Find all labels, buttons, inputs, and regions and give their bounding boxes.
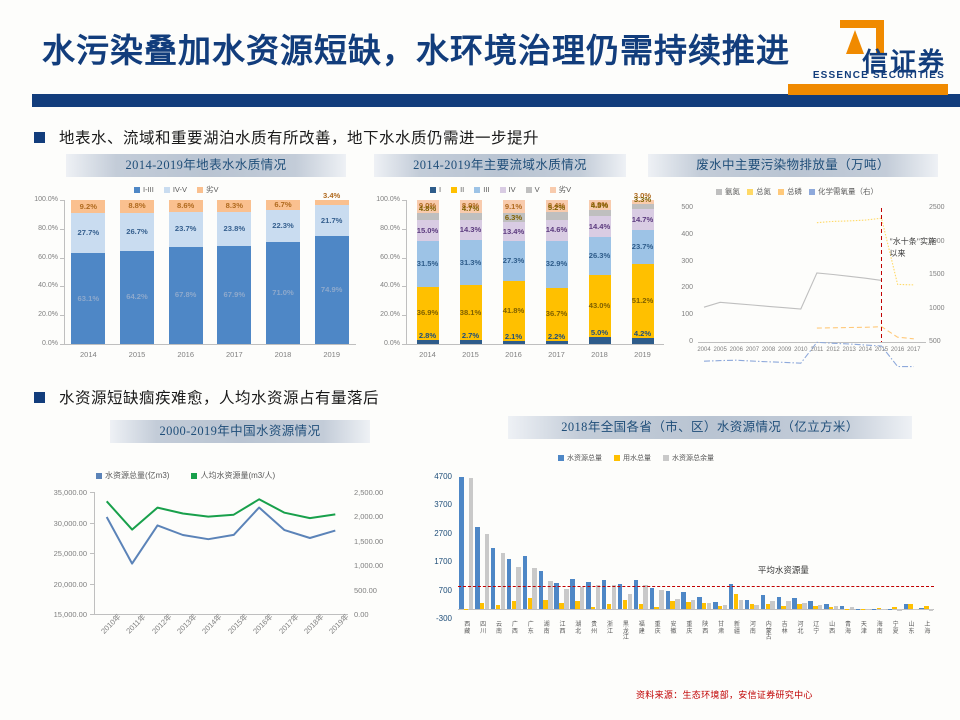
x-category-label: 西藏 — [463, 622, 472, 635]
bar-用水总量 — [908, 604, 912, 610]
legend-swatch — [164, 187, 170, 193]
x-category-label: 四川 — [479, 622, 488, 635]
bar-segment: 2.2% — [546, 341, 568, 344]
bar-stack: 9.1%6.3%13.4%27.3%41.8%2.1% — [503, 200, 525, 344]
y2-tick-label: 500 — [929, 338, 941, 345]
legend-swatch — [614, 455, 620, 461]
bar-水资源总量 — [459, 477, 463, 609]
bar-stack: 9.2%27.7%63.1% — [71, 200, 105, 344]
x-category-label: 陕西 — [701, 622, 710, 635]
legend-label: II — [460, 185, 464, 194]
bar-value-label: 13.4% — [503, 227, 525, 236]
bar-水资源总量 — [539, 571, 543, 609]
bar-stack: 3.0%3.3%14.7%23.7%51.2%4.2% — [632, 200, 654, 344]
bar-value-label: 15.0% — [417, 226, 439, 235]
panel-title-province-water: 2018年全国各省（市、区）水资源情况（亿立方米） — [508, 416, 912, 439]
series-line-总磷 — [817, 327, 914, 339]
legend-swatch — [526, 187, 532, 193]
panel-title-surface-water: 2014-2019年地表水水质情况 — [66, 154, 346, 177]
x-category-label: 2015 — [453, 350, 489, 359]
legend-item-水资源总余量: 水资源总余量 — [663, 453, 714, 463]
legend-item-IV: IV — [500, 185, 516, 194]
bar-value-label: 14.7% — [632, 215, 654, 224]
bar-value-label: 27.7% — [78, 228, 100, 237]
bar-segment: 63.1% — [71, 253, 105, 344]
legend-label: IV-V — [173, 185, 187, 194]
y-tick-label: 40.0% — [370, 282, 400, 289]
bar-value-label: 64.2% — [126, 292, 148, 301]
header-orange-rule — [788, 84, 948, 95]
bar-水资源总量 — [840, 606, 844, 609]
bar-segment: 27.3% — [503, 241, 525, 280]
bar-segment: 8.3% — [217, 200, 251, 212]
y-axis-line — [64, 200, 65, 344]
bar-value-label: 5.0% — [591, 328, 608, 337]
bar-水资源总量 — [761, 595, 765, 609]
source-note: 资料来源：生态环境部，安信证券研究中心 — [636, 688, 813, 701]
bar-水资源总余量 — [564, 589, 568, 609]
x-axis-line — [458, 609, 934, 610]
bullet-2: 水资源短缺痼疾难愈，人均水资源占有量落后 — [34, 386, 379, 408]
bar-水资源总余量 — [612, 585, 616, 610]
bar-segment: 4.8% — [417, 213, 439, 220]
bar-value-label: 2.2% — [548, 332, 565, 341]
bar-水资源总量 — [713, 602, 717, 610]
bar-水资源总余量 — [754, 605, 758, 609]
bar-value-label: 8.6% — [177, 201, 194, 210]
x-category-label: 江西 — [558, 622, 567, 635]
x-category-label: 河北 — [796, 622, 805, 635]
y-tick-label: 60.0% — [370, 254, 400, 261]
bar-用水总量 — [750, 604, 754, 610]
x-category-label: 重庆 — [653, 622, 662, 635]
bar-stack: 6.7%22.3%71.0% — [266, 200, 300, 344]
bar-segment: 4.7% — [460, 213, 482, 220]
bar-水资源总量 — [792, 598, 796, 609]
bar-value-label: 26.3% — [589, 251, 611, 260]
legend-label: 化学需氧量（右） — [818, 187, 878, 196]
bar-水资源总量 — [650, 588, 654, 610]
bar-value-label: 32.9% — [546, 259, 568, 268]
y-tick-label: 20.0% — [370, 311, 400, 318]
bar-value-label: 14.4% — [589, 222, 611, 231]
legend-item-水资源总量: 水资源总量 — [558, 453, 602, 463]
x-category-label: 2018 — [582, 350, 618, 359]
bar-segment: 2.1% — [503, 341, 525, 344]
bar-用水总量 — [797, 604, 801, 609]
x-category-label: 重庆 — [685, 622, 694, 635]
x-category-label: 福建 — [637, 622, 646, 635]
bar-segment: 74.9% — [315, 236, 349, 344]
bar-value-label: 27.3% — [503, 256, 525, 265]
bar-水资源总量 — [570, 579, 574, 610]
legend-label: 水资源总量 — [567, 455, 602, 462]
bar-水资源总余量 — [834, 606, 838, 610]
bar-stack: 8.9%4.7%14.3%31.3%38.1%2.7% — [460, 200, 482, 344]
bar-value-label: 36.7% — [546, 309, 568, 318]
bar-水资源总余量 — [723, 605, 727, 609]
bar-水资源总量 — [888, 609, 892, 610]
bar-segment: 31.5% — [417, 241, 439, 286]
bar-水资源总量 — [491, 548, 495, 609]
bar-水资源总量 — [808, 601, 812, 609]
bullet-1-text: 地表水、流域和重要湖泊水质有所改善，地下水水质仍需进一步提升 — [59, 126, 539, 148]
bar-用水总量 — [829, 607, 833, 609]
bar-水资源总量 — [666, 591, 670, 610]
x-category-label: 2018 — [265, 350, 301, 359]
bar-value-label: 23.7% — [175, 224, 197, 233]
legend-swatch — [430, 187, 436, 193]
x-axis-line — [64, 344, 356, 345]
bar-value-label: 67.9% — [224, 290, 246, 299]
bar-水资源总余量 — [897, 609, 901, 611]
legend-swatch — [558, 455, 564, 461]
bar-segment: 2.8% — [417, 340, 439, 344]
bar-水资源总余量 — [516, 567, 520, 610]
chart-legend: 水资源总量用水总量水资源总余量 — [558, 453, 714, 463]
bar-value-label: 2.7% — [462, 331, 479, 340]
bar-value-label: 8.8% — [128, 201, 145, 210]
bar-用水总量 — [670, 601, 674, 609]
bar-用水总量 — [892, 607, 896, 609]
bar-segment: 6.3% — [503, 213, 525, 222]
x-category-label: 上海 — [923, 622, 932, 635]
bar-用水总量 — [654, 607, 658, 609]
legend-item-化学需氧量（右）: 化学需氧量（右） — [809, 186, 878, 197]
bar-用水总量 — [813, 606, 817, 610]
bar-水资源总量 — [919, 608, 923, 610]
x-category-label: 安徽 — [669, 622, 678, 635]
bar-value-label: 4.7% — [462, 204, 479, 213]
average-annotation: 平均水资源量 — [758, 564, 809, 576]
y-tick-label: 2700 — [424, 529, 452, 538]
bar-用水总量 — [575, 601, 579, 609]
bar-水资源总余量 — [770, 601, 774, 610]
bar-水资源总量 — [602, 580, 606, 610]
bar-水资源总余量 — [501, 553, 505, 610]
bar-水资源总量 — [523, 556, 527, 609]
bar-stack: 6.9%4.5%14.4%26.3%43.0%5.0% — [589, 200, 611, 344]
bar-水资源总余量 — [707, 603, 711, 609]
legend-label: 劣V — [559, 185, 572, 194]
bar-水资源总量 — [475, 527, 479, 610]
panel-title-china-water: 2000-2019年中国水资源情况 — [110, 420, 370, 443]
x-axis-line — [406, 344, 664, 345]
bar-value-label: 4.8% — [419, 204, 436, 213]
bar-用水总量 — [861, 609, 865, 610]
y-tick-label: 80.0% — [22, 225, 58, 232]
bar-value-label: 3.3% — [634, 195, 651, 204]
x-category-label: 黑龙江 — [621, 622, 630, 642]
y-tick-label: 60.0% — [22, 254, 58, 261]
legend-swatch — [716, 189, 722, 195]
bar-value-label: 6.3% — [505, 213, 522, 222]
bar-value-label: 63.1% — [78, 294, 100, 303]
bar-value-label: 21.7% — [321, 216, 343, 225]
x-category-label: 甘肃 — [717, 622, 726, 635]
bar-用水总量 — [496, 605, 500, 609]
x-category-label: 湖北 — [574, 622, 583, 635]
bar-水资源总量 — [904, 604, 908, 609]
bar-水资源总余量 — [881, 609, 885, 610]
bar-value-label: 38.1% — [460, 308, 482, 317]
legend-item-劣V: 劣V — [550, 184, 572, 195]
bar-value-label: 41.8% — [503, 306, 525, 315]
bar-segment: 71.0% — [266, 242, 300, 344]
legend-item-总氮: 总氮 — [747, 186, 771, 197]
bar-stack: 8.8%26.7%64.2% — [120, 200, 154, 344]
y-tick-label: 200 — [672, 284, 693, 291]
bar-用水总量 — [734, 594, 738, 610]
y-tick-label: 400 — [672, 231, 693, 238]
bar-segment: 8.6% — [169, 200, 203, 212]
x-category-label: 河南 — [748, 622, 757, 635]
bar-value-label: 2.1% — [505, 332, 522, 341]
bar-用水总量 — [464, 609, 468, 610]
y-tick-label: 700 — [424, 586, 452, 595]
bar-segment: 5.2% — [546, 212, 568, 219]
bar-segment: 5.0% — [589, 337, 611, 344]
x-category-label: 2017 — [539, 350, 575, 359]
legend-item-用水总量: 用水总量 — [614, 453, 651, 463]
bar-segment: 26.7% — [120, 213, 154, 251]
bar-水资源总量 — [824, 604, 828, 610]
chart-surface-water: I-IIIIV-V劣V0.0%20.0%40.0%60.0%80.0%100.0… — [22, 182, 362, 370]
bar-segment: 23.7% — [169, 212, 203, 246]
bar-用水总量 — [718, 606, 722, 609]
bar-segment: 6.7% — [266, 200, 300, 210]
bar-value-label: 6.7% — [274, 200, 291, 209]
bar-水资源总余量 — [929, 609, 933, 610]
x-category-label: 内蒙古 — [764, 622, 773, 642]
x-category-label: 2017 — [216, 350, 252, 359]
bar-segment: 21.7% — [315, 205, 349, 236]
header-blue-rule — [32, 94, 960, 107]
bar-value-label: 4.5% — [591, 201, 608, 210]
x-category-label: 湖南 — [542, 622, 551, 635]
legend-swatch — [550, 187, 556, 193]
bar-用水总量 — [766, 604, 770, 609]
y-tick-label: 4700 — [424, 472, 452, 481]
legend-swatch — [747, 189, 753, 195]
bar-segment: 67.8% — [169, 247, 203, 345]
bar-用水总量 — [543, 600, 547, 609]
x-category-label: 新疆 — [732, 622, 741, 635]
y2-tick-label: 1000 — [929, 305, 945, 312]
bar-value-label: 23.8% — [224, 224, 246, 233]
series-line-人均水资源量(m3/人) — [107, 499, 336, 529]
bar-value-label: 51.2% — [632, 296, 654, 305]
chart-basin-water: IIIIIIIVV劣V0.0%20.0%40.0%60.0%80.0%100.0… — [370, 182, 670, 370]
y-tick-label: -300 — [424, 614, 452, 623]
y-tick-label: 40.0% — [22, 282, 58, 289]
bar-水资源总量 — [745, 600, 749, 610]
bar-水资源总量 — [872, 609, 876, 610]
chart-legend: IIIIIIIVV劣V — [430, 184, 571, 195]
bar-segment: 9.1% — [503, 200, 525, 213]
logo-english-name: ESSENCE SECURITIES — [813, 70, 945, 81]
x-category-label: 2016 — [496, 350, 532, 359]
bar-value-label: 31.3% — [460, 258, 482, 267]
legend-item-I: I — [430, 185, 441, 194]
x-category-label: 山西 — [828, 622, 837, 635]
average-line — [458, 586, 934, 587]
x-category-label: 2019 — [314, 350, 350, 359]
bar-value-label: 2.8% — [419, 331, 436, 340]
bar-segment: 14.3% — [460, 220, 482, 241]
bar-value-label: 23.7% — [632, 242, 654, 251]
x-category-label: 宁夏 — [891, 622, 900, 635]
bar-水资源总余量 — [913, 609, 917, 610]
chart-china-water: 水资源总量(亿m3)人均水资源量(m3/人)15,000.0020,000.00… — [34, 456, 406, 668]
bar-value-label: 74.9% — [321, 285, 343, 294]
bar-用水总量 — [686, 602, 690, 610]
bar-value-label: 8.3% — [226, 201, 243, 210]
legend-label: IV — [509, 185, 516, 194]
legend-swatch — [778, 189, 784, 195]
bar-水资源总余量 — [786, 601, 790, 610]
chart-annotation: "水十条"实施以来 — [889, 236, 939, 260]
company-logo: 信证券 ESSENCE SECURITIES — [788, 20, 948, 86]
bar-水资源总量 — [856, 609, 860, 610]
bar-segment: 23.7% — [632, 230, 654, 264]
x-category-label: 2016 — [168, 350, 204, 359]
bar-水资源总余量 — [469, 478, 473, 609]
bar-value-label: 22.3% — [272, 221, 294, 230]
bar-用水总量 — [591, 607, 595, 610]
bar-水资源总量 — [681, 592, 685, 609]
bar-stack: 8.3%23.8%67.9% — [217, 200, 251, 344]
slide-header: 信证券 ESSENCE SECURITIES 水污染叠加水资源短缺，水环境治理仍… — [0, 0, 960, 110]
y2-tick-label: 2500 — [929, 204, 945, 211]
bar-水资源总余量 — [548, 581, 552, 610]
legend-label: 氨氮 — [725, 187, 740, 196]
y-tick-label: 1700 — [424, 557, 452, 566]
x-axis-line — [698, 342, 926, 343]
x-category-label: 天津 — [859, 622, 868, 635]
legend-swatch — [663, 455, 669, 461]
series-line-化学需氧量（右） — [704, 342, 914, 366]
bar-value-label: 5.2% — [548, 203, 565, 212]
y-tick-label: 100 — [672, 311, 693, 318]
bar-水资源总余量 — [739, 600, 743, 609]
bar-segment: 2.7% — [460, 340, 482, 344]
legend-label: III — [483, 185, 489, 194]
bar-水资源总余量 — [691, 600, 695, 609]
x-category-label: 吉林 — [780, 622, 789, 635]
legend-label: V — [535, 185, 540, 194]
bar-segment: 13.4% — [503, 222, 525, 241]
panel-title-basin-water: 2014-2019年主要流域水质情况 — [374, 154, 626, 177]
bar-水资源总量 — [729, 584, 733, 609]
bar-segment: 14.7% — [632, 209, 654, 230]
bar-value-label: 26.7% — [126, 227, 148, 236]
bar-水资源总余量 — [628, 594, 632, 609]
bar-segment: 22.3% — [266, 210, 300, 242]
x-category-label: 浙江 — [606, 622, 615, 635]
bullet-1: 地表水、流域和重要湖泊水质有所改善，地下水水质仍需进一步提升 — [34, 126, 539, 148]
bar-水资源总量 — [634, 580, 638, 610]
bar-value-label: 3.4% — [323, 191, 340, 200]
legend-swatch — [809, 189, 815, 195]
chart-province-water: 水资源总量用水总量水资源总余量-3007001700270037004700西藏… — [424, 452, 944, 662]
bar-水资源总余量 — [866, 609, 870, 610]
legend-item-I-III: I-III — [134, 185, 154, 194]
legend-label: 总氮 — [756, 187, 771, 196]
bar-value-label: 4.2% — [634, 329, 651, 338]
bar-水资源总量 — [618, 584, 622, 609]
legend-item-II: II — [451, 185, 464, 194]
x-category-label: 2014 — [410, 350, 446, 359]
bar-水资源总余量 — [596, 585, 600, 609]
bar-用水总量 — [639, 604, 643, 609]
bar-value-label: 14.3% — [460, 225, 482, 234]
bar-segment: 64.2% — [120, 251, 154, 343]
chart-legend: 氨氮总氮总磷化学需氧量（右） — [716, 186, 878, 197]
x-category-label: 云南 — [494, 622, 503, 635]
bar-segment: 9.2% — [71, 200, 105, 213]
bar-用水总量 — [559, 603, 563, 610]
legend-label: I-III — [143, 185, 154, 194]
x-category-label: 2014 — [70, 350, 106, 359]
bar-用水总量 — [781, 606, 785, 610]
legend-label: I — [439, 185, 441, 194]
bar-用水总量 — [623, 600, 627, 610]
y-axis-line — [406, 200, 407, 344]
x-category-label: 海南 — [875, 622, 884, 635]
x-category-label: 2017 — [905, 347, 923, 353]
bar-水资源总余量 — [532, 568, 536, 609]
bar-stack: 9.0%4.8%15.0%31.5%36.9%2.8% — [417, 200, 439, 344]
bar-水资源总余量 — [818, 605, 822, 610]
bar-用水总量 — [877, 608, 881, 609]
bar-value-label: 14.6% — [546, 225, 568, 234]
bar-stack: 8.4%5.2%14.6%32.9%36.7%2.2% — [546, 200, 568, 344]
bar-value-label: 9.1% — [505, 202, 522, 211]
bar-水资源总余量 — [643, 585, 647, 609]
bar-value-label: 71.0% — [272, 288, 294, 297]
bar-segment: 67.9% — [217, 246, 251, 344]
bar-水资源总余量 — [802, 603, 806, 609]
china-water-line-svg — [34, 456, 406, 668]
y2-tick-label: 1500 — [929, 271, 945, 278]
y-tick-label: 100.0% — [22, 196, 58, 203]
legend-swatch — [197, 187, 203, 193]
bar-segment: 8.8% — [120, 200, 154, 213]
chart-pollutant-emission: 氨氮总氮总磷化学需氧量（右）01002003004005005001000150… — [672, 186, 952, 372]
bar-segment: 14.6% — [546, 220, 568, 241]
bar-value-label: 9.2% — [80, 202, 97, 211]
bar-segment: 14.4% — [589, 216, 611, 237]
panel-title-pollutant: 废水中主要污染物排放量（万吨） — [648, 154, 938, 177]
legend-swatch — [134, 187, 140, 193]
bar-水资源总余量 — [659, 590, 663, 610]
bar-用水总量 — [512, 601, 516, 609]
bullet-square-icon — [34, 132, 45, 143]
bar-value-label: 43.0% — [589, 301, 611, 310]
bar-水资源总余量 — [675, 599, 679, 610]
bar-value-label: 67.8% — [175, 290, 197, 299]
y-tick-label: 80.0% — [370, 225, 400, 232]
bar-stack: 3.4%21.7%74.9% — [315, 200, 349, 344]
chart-legend: I-IIIIV-V劣V — [134, 184, 219, 195]
bar-segment: 32.9% — [546, 241, 568, 288]
x-category-label: 2019 — [625, 350, 661, 359]
legend-label: 总磷 — [787, 187, 802, 196]
bar-segment: 31.3% — [460, 240, 482, 285]
legend-item-氨氮: 氨氮 — [716, 186, 740, 197]
legend-item-V: V — [526, 185, 540, 194]
